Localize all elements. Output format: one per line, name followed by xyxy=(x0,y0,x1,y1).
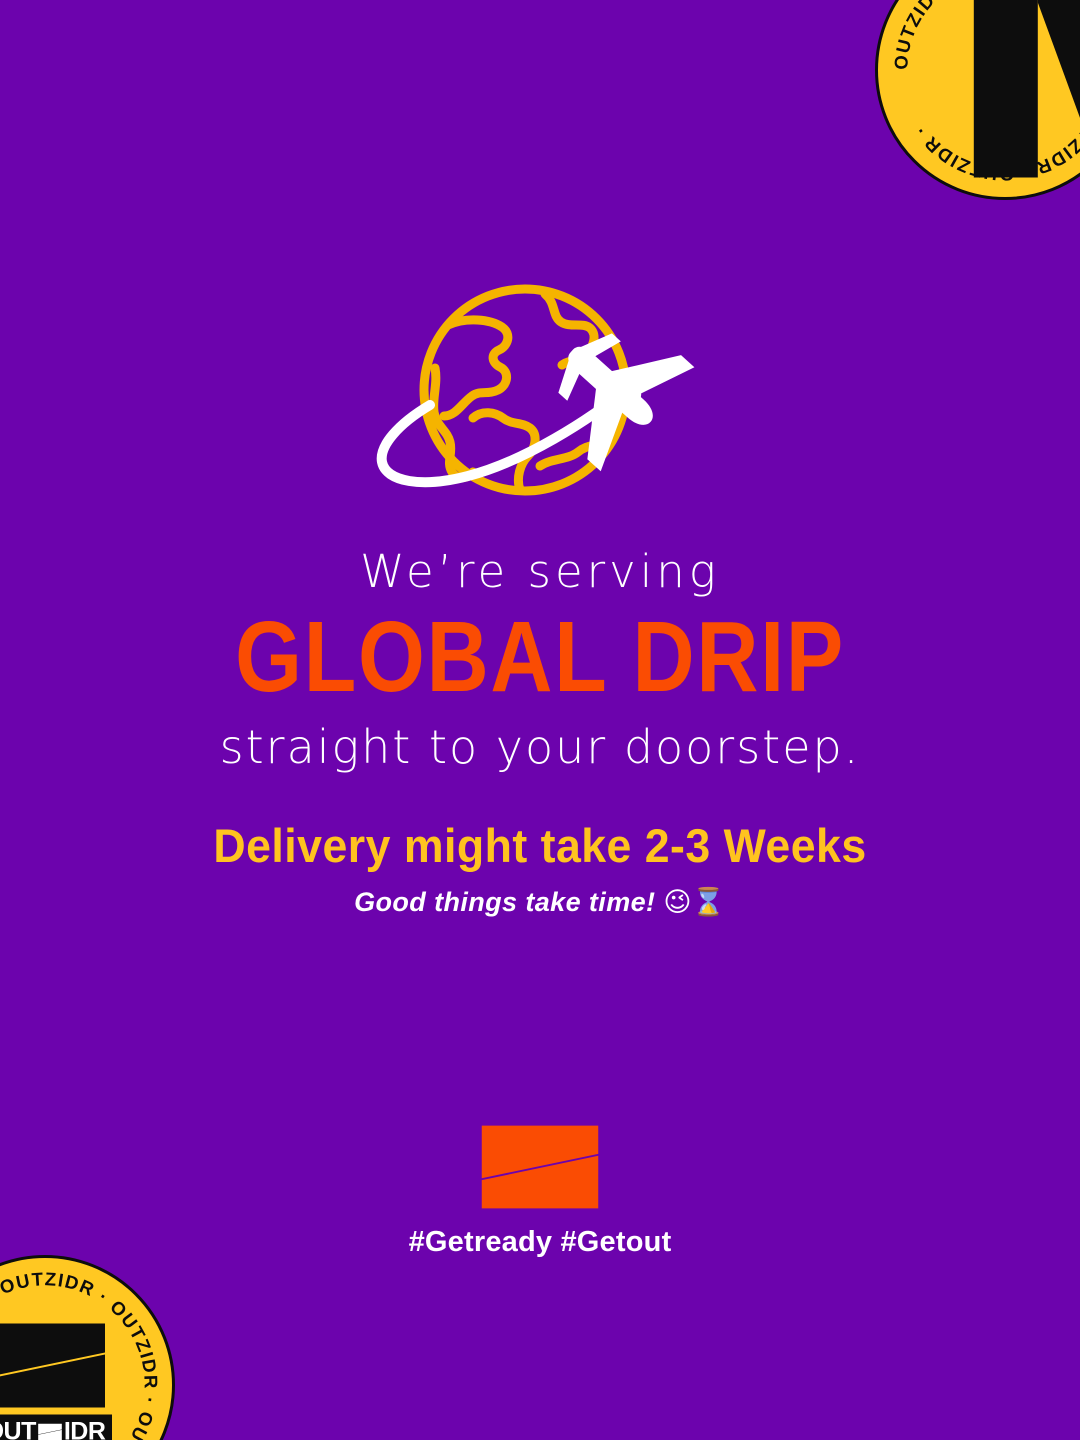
wink-hourglass-emoji: 😉⌛ xyxy=(663,887,726,918)
delivery-block: Delivery might take 2-3 Weeks Good thing… xyxy=(0,820,1080,918)
outzidr-z-logo-icon xyxy=(478,1122,602,1212)
badge-wordmark: OUT IDR xyxy=(0,1415,112,1440)
eyebrow-text: We’re serving xyxy=(0,548,1080,595)
hashtags-text: #Getready #Getout xyxy=(409,1226,672,1259)
badge-wordmark-left: OUT xyxy=(0,1420,36,1440)
globe-with-airplane-icon xyxy=(340,270,740,520)
subline-text: straight to your doorstep. xyxy=(0,723,1080,771)
footer-block: #Getready #Getout xyxy=(0,1122,1080,1259)
poster-canvas: OUTZIDR · OUTZIDR · OUTZIDR · OUTZIDR · … xyxy=(0,0,1080,1440)
badge-wordmark-right: IDR xyxy=(64,1420,106,1440)
headline-text: GLOBAL DRIP xyxy=(76,607,1005,707)
badge-large-letter-mark xyxy=(952,0,1080,178)
outzidr-z-logo-icon xyxy=(0,1320,111,1412)
brand-badge-bottom-left: OUTZIDR · OUTZIDR · OUTZIDR · OUTZIDR · … xyxy=(0,1255,175,1440)
delivery-sub-text: Good things take time! xyxy=(354,887,655,917)
wordmark-z-icon xyxy=(37,1422,63,1440)
delivery-sub-line: Good things take time! 😉⌛ xyxy=(0,886,1080,918)
globe-illustration xyxy=(0,270,1080,520)
delivery-note-text: Delivery might take 2-3 Weeks xyxy=(27,820,1053,872)
brand-badge-top-right: OUTZIDR · OUTZIDR · OUTZIDR · OUTZIDR · … xyxy=(875,0,1080,200)
badge-center-lockup: OUT IDR xyxy=(0,1320,120,1440)
headline-block: We’re serving GLOBAL DRIP straight to yo… xyxy=(0,548,1080,772)
